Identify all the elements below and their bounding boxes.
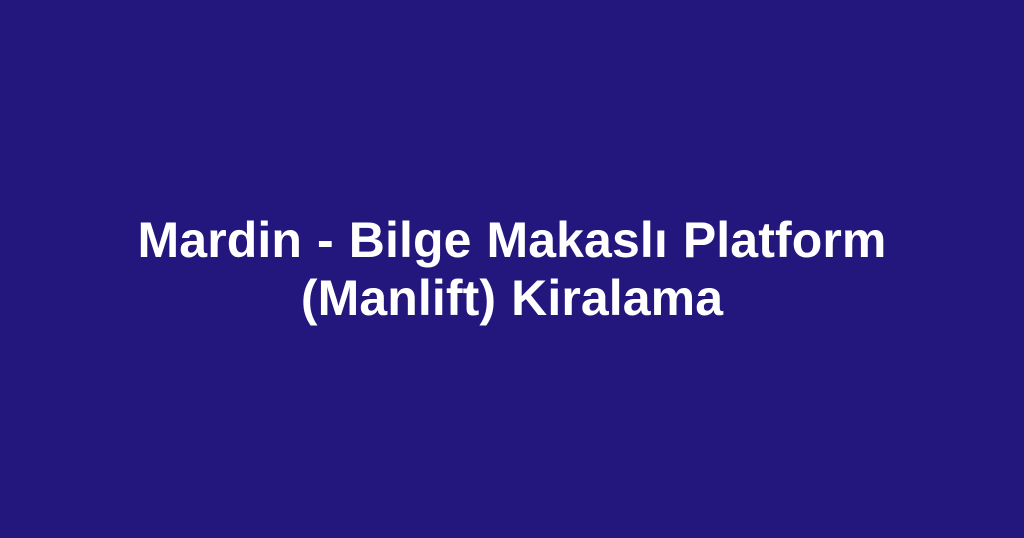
page-title: Mardin - Bilge Makaslı Platform (Manlift…: [64, 211, 960, 327]
banner-content: Mardin - Bilge Makaslı Platform (Manlift…: [0, 211, 1024, 327]
title-banner: Mardin - Bilge Makaslı Platform (Manlift…: [0, 0, 1024, 538]
